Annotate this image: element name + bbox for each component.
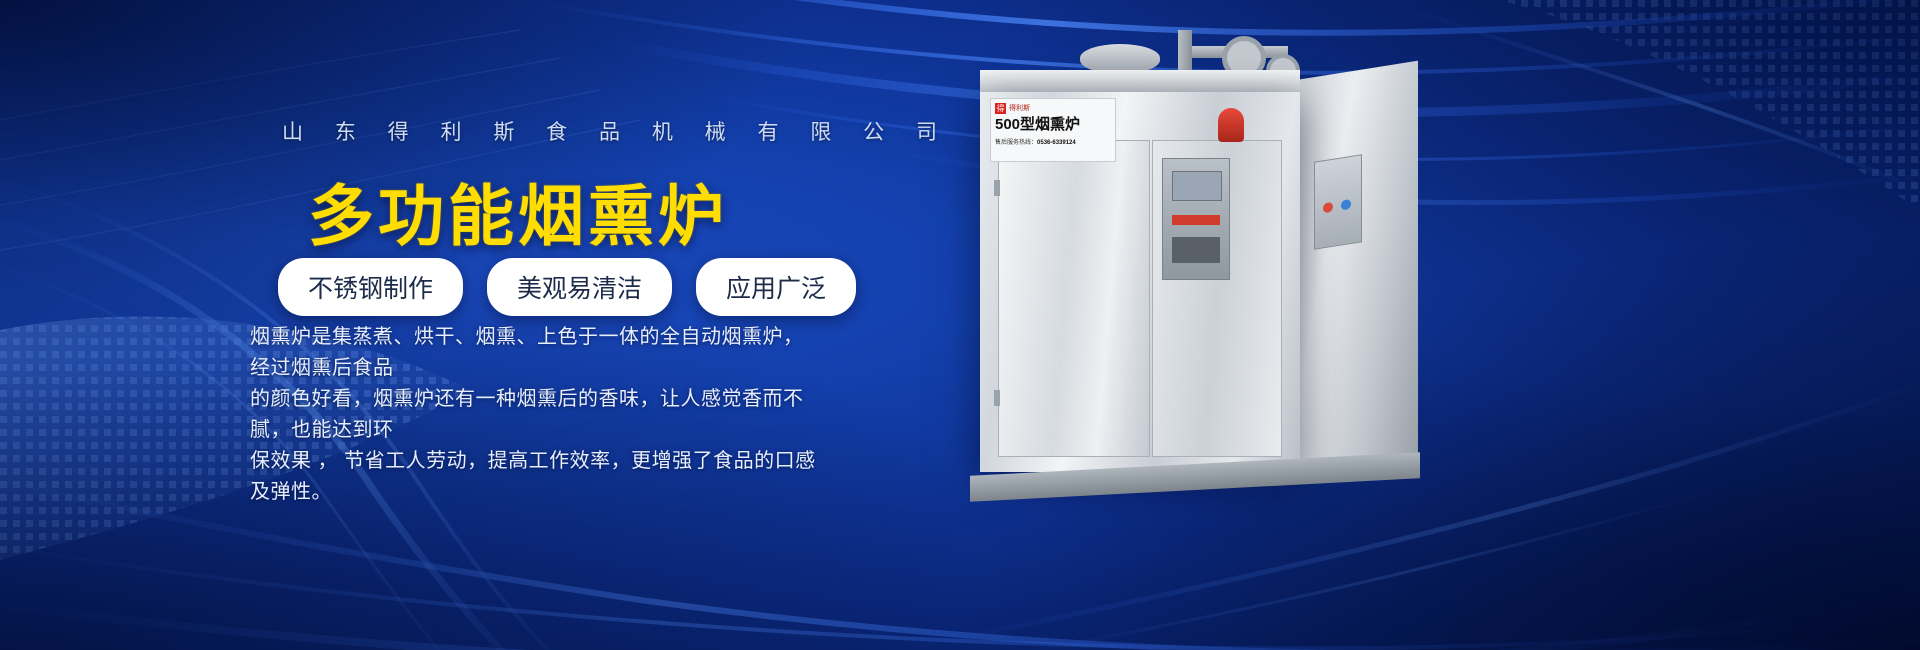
brand-logo-text: 得利斯 bbox=[1009, 103, 1030, 113]
service-hotline: 售后服务热线：0536-6339124 bbox=[995, 137, 1111, 146]
door-hinge-top bbox=[994, 180, 1000, 196]
alarm-beacon-icon bbox=[1218, 108, 1244, 142]
description-line-2: 的颜色好看，烟熏炉还有一种烟熏后的香味，让人感觉香而不腻，也能达到环 bbox=[250, 384, 816, 446]
banner-text-block: 山 东 得 利 斯 食 品 机 械 有 限 公 司 多功能烟熏炉 不锈钢制作 美… bbox=[0, 0, 860, 650]
oven-door-left bbox=[998, 140, 1150, 457]
feature-pill-stainless[interactable]: 不锈钢制作 bbox=[278, 258, 463, 316]
company-name: 山 东 得 利 斯 食 品 机 械 有 限 公 司 bbox=[282, 116, 950, 146]
electrical-box bbox=[1314, 154, 1362, 250]
brand-logo-mark: 得 bbox=[995, 103, 1006, 114]
indicator-lamp-red-icon bbox=[1323, 202, 1333, 214]
indicator-lamp-blue-icon bbox=[1341, 199, 1351, 211]
control-panel-buttons bbox=[1172, 237, 1220, 263]
control-panel-indicator bbox=[1172, 215, 1220, 225]
control-panel bbox=[1162, 158, 1230, 280]
description-line-3: 保效果 ， 节省工人劳动，提高工作效率，更增强了食品的口感及弹性。 bbox=[250, 446, 816, 508]
service-hotline-number: 0536-6339124 bbox=[1037, 140, 1076, 146]
feature-pill-list: 不锈钢制作 美观易清洁 应用广泛 bbox=[278, 258, 856, 316]
page-title: 多功能烟熏炉 bbox=[308, 163, 728, 259]
control-panel-screen bbox=[1172, 171, 1222, 201]
description-paragraph: 烟熏炉是集蒸煮、烘干、烟熏、上色于一体的全自动烟熏炉，经过烟熏后食品 的颜色好看… bbox=[250, 322, 816, 508]
product-model-label: 500型烟熏炉 bbox=[995, 117, 1111, 134]
door-hinge-bottom bbox=[994, 390, 1000, 406]
feature-pill-easy-clean[interactable]: 美观易清洁 bbox=[487, 258, 672, 316]
hero-banner: 山 东 得 利 斯 食 品 机 械 有 限 公 司 多功能烟熏炉 不锈钢制作 美… bbox=[0, 0, 1920, 650]
product-nameplate: 得 得利斯 500型烟熏炉 售后服务热线：0536-6339124 bbox=[990, 98, 1116, 162]
oven-side-panel bbox=[1300, 61, 1418, 472]
description-line-1: 烟熏炉是集蒸煮、烘干、烟熏、上色于一体的全自动烟熏炉，经过烟熏后食品 bbox=[250, 322, 816, 384]
product-photo-smokehouse-oven: 得 得利斯 500型烟熏炉 售后服务热线：0536-6339124 bbox=[930, 30, 1450, 530]
feature-pill-wide-use[interactable]: 应用广泛 bbox=[696, 258, 856, 316]
brand-logo: 得 得利斯 bbox=[995, 102, 1111, 114]
service-hotline-prefix: 售后服务热线： bbox=[995, 140, 1037, 146]
